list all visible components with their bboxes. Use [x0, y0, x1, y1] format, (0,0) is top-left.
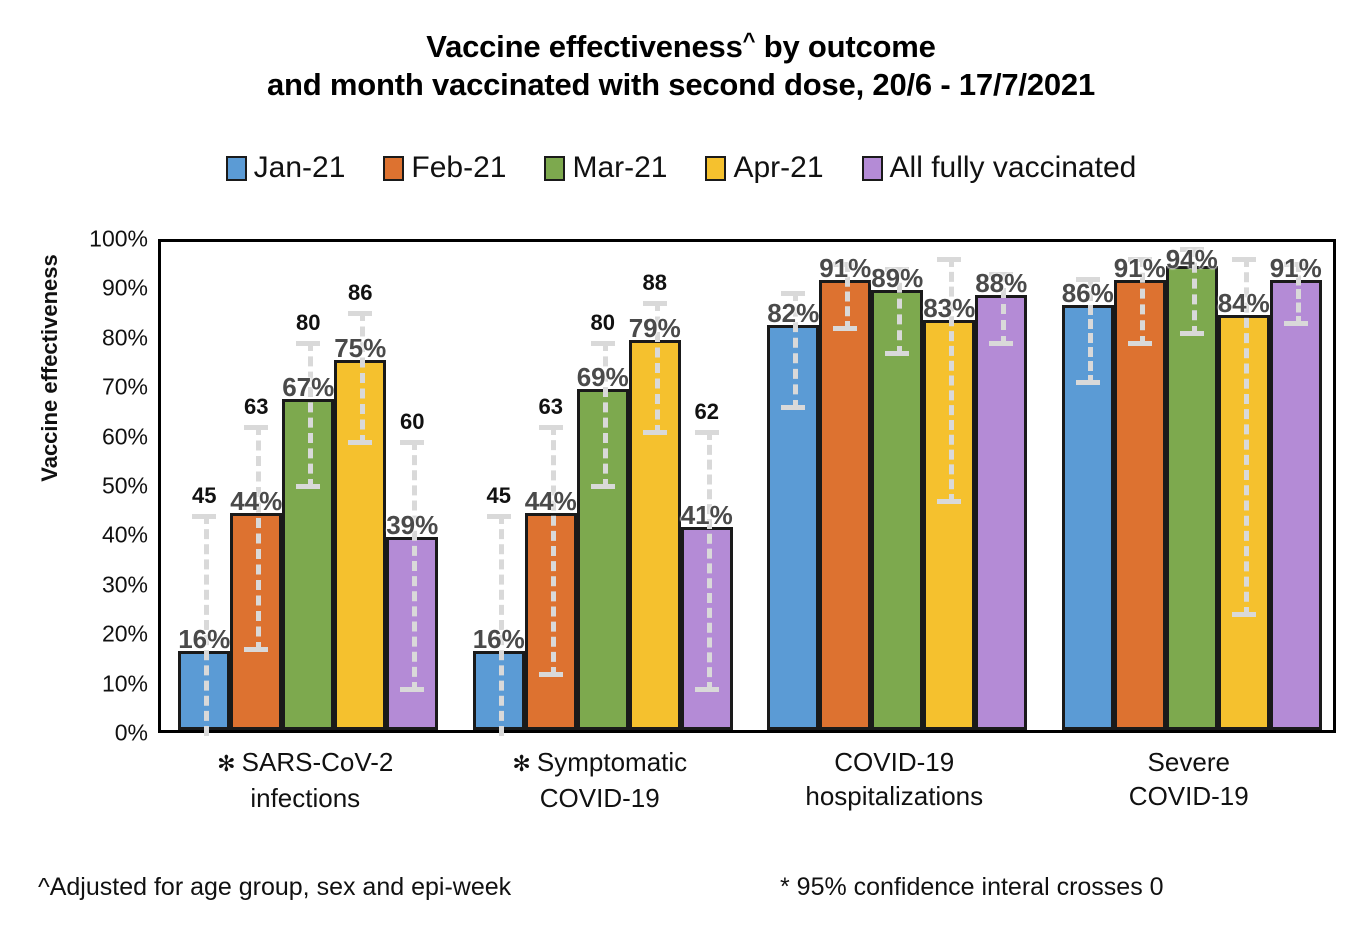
ci-upper-label: 80	[591, 310, 615, 336]
error-bar-cap-upper	[487, 514, 511, 519]
bar-feb-21[interactable]	[819, 280, 871, 730]
legend-swatch-icon	[705, 156, 726, 181]
error-bar	[360, 311, 365, 444]
error-bar-cap-lower	[695, 687, 719, 692]
x-category-label-line: ✻ Symptomatic	[512, 745, 687, 781]
error-bar-cap-upper	[192, 514, 216, 519]
bar-value-label: 44%	[230, 486, 282, 517]
y-axis-tick-labels: 0%10%20%30%40%50%60%70%80%90%100%	[60, 239, 148, 733]
bar-value-label: 67%	[282, 372, 334, 403]
x-category-label-text: Symptomatic	[537, 747, 687, 777]
x-category-label-text: COVID-19	[540, 783, 660, 813]
error-bar	[551, 425, 556, 677]
title-line-1-post: by outcome	[755, 29, 935, 64]
legend-item-jan-21[interactable]: Jan-21	[226, 152, 346, 184]
error-bar-cap-lower	[400, 687, 424, 692]
legend-item-apr-21[interactable]: Apr-21	[705, 152, 823, 184]
ci-upper-label: 63	[244, 394, 268, 420]
error-bar-cap-upper	[539, 425, 563, 430]
x-category-label-text: hospitalizations	[805, 781, 983, 811]
x-axis-category-labels: ✻ SARS-CoV-2infections✻ SymptomaticCOVID…	[158, 745, 1336, 840]
error-bar-cap-upper	[781, 291, 805, 296]
error-bar-cap-lower	[937, 499, 961, 504]
error-bar-cap-lower	[1076, 380, 1100, 385]
error-bar-cap-lower	[1128, 341, 1152, 346]
bar-feb-21[interactable]	[1114, 280, 1166, 730]
legend-item-feb-21[interactable]: Feb-21	[383, 152, 506, 184]
bar-all-fully-vaccinated[interactable]	[975, 295, 1027, 730]
bar-value-label: 84%	[1218, 288, 1270, 319]
error-bar-cap-lower	[833, 326, 857, 331]
bar-value-label: 41%	[681, 500, 733, 531]
x-category-label-text: Severe	[1148, 747, 1230, 777]
bar-value-label: 91%	[1270, 253, 1322, 284]
footnote-ci-crosses-zero: * 95% confidence interal crosses 0	[780, 873, 1164, 902]
bar-value-label: 91%	[1114, 253, 1166, 284]
x-category-label-line: ✻ SARS-CoV-2	[217, 745, 393, 781]
error-bar-cap-upper	[1232, 257, 1256, 262]
error-bar-cap-lower	[296, 484, 320, 489]
error-bar-cap-lower	[244, 647, 268, 652]
asterisk-icon: ✻	[217, 751, 242, 776]
ci-upper-label: 88	[643, 270, 667, 296]
x-category-label-line: infections	[217, 781, 393, 815]
footnotes: ^Adjusted for age group, sex and epi-wee…	[0, 873, 1362, 913]
error-bar-cap-lower	[643, 430, 667, 435]
y-tick-label: 0%	[60, 720, 148, 747]
error-bar-cap-upper	[348, 311, 372, 316]
ci-upper-label: 60	[400, 409, 424, 435]
error-bar	[412, 440, 417, 692]
legend-item-label: Mar-21	[572, 152, 667, 184]
y-tick-label: 100%	[60, 226, 148, 253]
title-line-2: and month vaccinated with second dose, 2…	[0, 66, 1362, 104]
bar-value-label: 94%	[1166, 244, 1218, 275]
legend-item-label: Jan-21	[254, 152, 346, 184]
error-bar-cap-upper	[695, 430, 719, 435]
x-category-label: ✻ SARS-CoV-2infections	[217, 745, 393, 815]
error-bar-cap-lower	[885, 351, 909, 356]
ci-upper-label: 45	[487, 483, 511, 509]
error-bar	[707, 430, 712, 692]
bar-mar-21[interactable]	[871, 290, 923, 730]
ci-upper-label: 63	[539, 394, 563, 420]
bar-value-label: 91%	[819, 253, 871, 284]
asterisk-icon: ✻	[512, 751, 537, 776]
bar-all-fully-vaccinated[interactable]	[1270, 280, 1322, 730]
bar-value-label: 79%	[629, 313, 681, 344]
error-bar	[308, 341, 313, 489]
error-bar-cap-lower	[1180, 331, 1204, 336]
bar-value-label: 75%	[334, 333, 386, 364]
y-tick-label: 70%	[60, 374, 148, 401]
x-category-label-text: COVID-19	[834, 747, 954, 777]
ci-upper-label: 45	[192, 483, 216, 509]
ci-upper-label: 80	[296, 310, 320, 336]
bar-value-label: 82%	[767, 298, 819, 329]
error-bar-cap-upper	[400, 440, 424, 445]
x-category-label: COVID-19hospitalizations	[805, 745, 983, 813]
error-bar-cap-upper	[591, 341, 615, 346]
ci-upper-label: 86	[348, 280, 372, 306]
bar-value-label: 83%	[923, 293, 975, 324]
x-category-label-text: infections	[250, 783, 360, 813]
x-category-label-line: COVID-19	[1129, 779, 1249, 813]
title-superscript-caret: ^	[743, 28, 756, 53]
x-category-label-line: Severe	[1129, 745, 1249, 779]
ci-upper-label: 62	[695, 399, 719, 425]
error-bar	[256, 425, 261, 652]
bar-value-label: 86%	[1062, 278, 1114, 309]
legend-swatch-icon	[862, 156, 883, 181]
legend-item-mar-21[interactable]: Mar-21	[544, 152, 667, 184]
footnote-adjusted: ^Adjusted for age group, sex and epi-wee…	[38, 873, 511, 902]
page-title: Vaccine effectiveness^ by outcome and mo…	[0, 22, 1362, 104]
plot-area: 16%4544%6367%8075%8639%6016%4544%6369%80…	[158, 239, 1336, 733]
y-tick-label: 10%	[60, 670, 148, 697]
y-tick-label: 90%	[60, 275, 148, 302]
bar-value-label: 89%	[871, 263, 923, 294]
bar-value-label: 16%	[473, 624, 525, 655]
error-bar-cap-lower	[989, 341, 1013, 346]
error-bar-cap-lower	[1232, 612, 1256, 617]
y-tick-label: 20%	[60, 621, 148, 648]
y-tick-label: 40%	[60, 522, 148, 549]
error-bar-cap-upper	[296, 341, 320, 346]
y-tick-label: 80%	[60, 324, 148, 351]
bar-value-label: 69%	[577, 362, 629, 393]
bar-value-label: 39%	[386, 510, 438, 541]
legend-item-label: Feb-21	[411, 152, 506, 184]
legend-item-all-fully-vaccinated[interactable]: All fully vaccinated	[862, 152, 1137, 184]
y-tick-label: 30%	[60, 571, 148, 598]
error-bar-cap-lower	[1284, 321, 1308, 326]
x-category-label: ✻ SymptomaticCOVID-19	[512, 745, 687, 815]
error-bar-cap-lower	[591, 484, 615, 489]
x-category-label: SevereCOVID-19	[1129, 745, 1249, 813]
error-bar-cap-upper	[643, 301, 667, 306]
y-tick-label: 50%	[60, 473, 148, 500]
plot-inner: 16%4544%6367%8075%8639%6016%4544%6369%80…	[161, 242, 1333, 730]
legend-swatch-icon	[544, 156, 565, 181]
legend-item-label: Apr-21	[733, 152, 823, 184]
error-bar-cap-upper	[244, 425, 268, 430]
bar-value-label: 16%	[178, 624, 230, 655]
error-bar-cap-upper	[937, 257, 961, 262]
legend-item-label: All fully vaccinated	[890, 152, 1137, 184]
x-category-label-line: hospitalizations	[805, 779, 983, 813]
x-category-label-text: SARS-CoV-2	[242, 747, 394, 777]
legend-swatch-icon	[226, 156, 247, 181]
title-line-1-pre: Vaccine effectiveness	[426, 29, 742, 64]
title-line-1: Vaccine effectiveness^ by outcome	[0, 22, 1362, 66]
legend-swatch-icon	[383, 156, 404, 181]
x-category-label-line: COVID-19	[805, 745, 983, 779]
y-tick-label: 60%	[60, 423, 148, 450]
bar-value-label: 88%	[975, 268, 1027, 299]
x-category-label-line: COVID-19	[512, 781, 687, 815]
bar-value-label: 44%	[525, 486, 577, 517]
error-bar-cap-lower	[539, 672, 563, 677]
chart-legend: Jan-21Feb-21Mar-21Apr-21All fully vaccin…	[0, 152, 1362, 184]
error-bar-cap-lower	[781, 405, 805, 410]
x-category-label-text: COVID-19	[1129, 781, 1249, 811]
error-bar-cap-lower	[348, 440, 372, 445]
